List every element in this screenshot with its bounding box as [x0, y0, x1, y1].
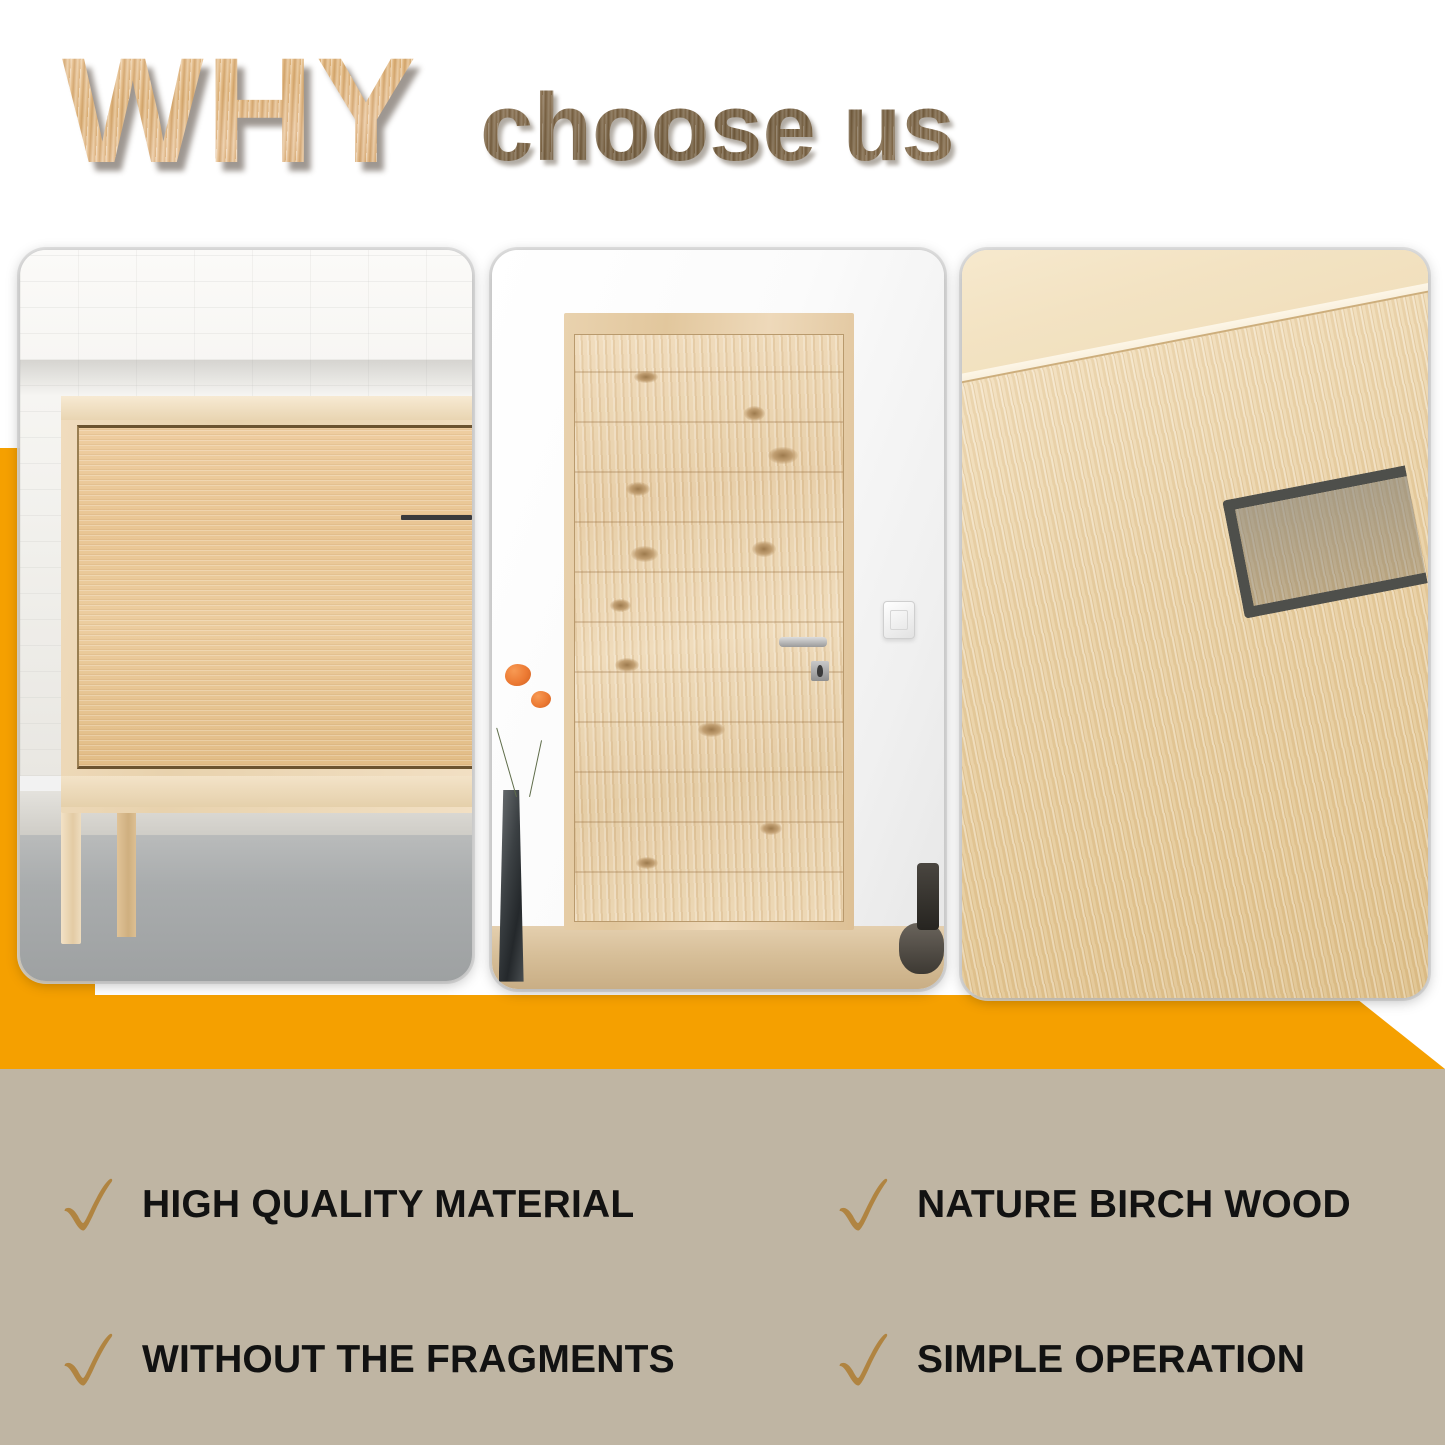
cabinet-drawer-front: [77, 425, 473, 769]
orange-accent-band: [0, 995, 1445, 1071]
door-keyhole-icon: [817, 665, 823, 677]
features-section: HIGH QUALITY MATERIAL NATURE BIRCH WOOD …: [0, 1069, 1445, 1445]
drawer-handle-closeup-photo: [962, 250, 1428, 998]
door-lever-handle[interactable]: [779, 637, 827, 646]
wood-knot-icon: [636, 857, 658, 869]
feature-label: NATURE BIRCH WOOD: [917, 1183, 1351, 1227]
concrete-floor: [20, 835, 472, 981]
oak-interior-door-photo: [492, 250, 944, 989]
feature-label: SIMPLE OPERATION: [917, 1338, 1305, 1382]
gallery-card-door[interactable]: [492, 250, 944, 989]
floor-object: [899, 923, 944, 975]
wood-knot-icon: [631, 546, 658, 561]
wood-knot-icon: [744, 406, 766, 421]
wood-knot-icon: [626, 482, 650, 496]
infographic-root: WHY choose us: [0, 0, 1445, 1445]
check-mark-icon: [837, 1331, 891, 1389]
wood-knot-icon: [760, 822, 782, 835]
door-leaf: [574, 334, 845, 922]
feature-label: WITHOUT THE FRAGMENTS: [142, 1338, 675, 1382]
wall-light-switch[interactable]: [883, 601, 915, 639]
drawer-front-panel: [962, 289, 1428, 998]
wood-knot-icon: [768, 447, 798, 465]
check-mark-icon: [62, 1331, 116, 1389]
cabinet-top-panel: [61, 396, 472, 419]
cabinet-leg-inner: [117, 806, 136, 938]
wood-knot-icon: [752, 541, 776, 557]
wall-shadow: [20, 360, 472, 397]
features-grid: HIGH QUALITY MATERIAL NATURE BIRCH WOOD …: [62, 1127, 1392, 1437]
check-mark-icon: [837, 1176, 891, 1234]
wood-knot-icon: [610, 599, 632, 612]
feature-item-nature-birch-wood: NATURE BIRCH WOOD: [837, 1176, 1392, 1234]
feature-item-without-the-fragments: WITHOUT THE FRAGMENTS: [62, 1331, 837, 1389]
cabinet-bottom-rail: [61, 776, 472, 807]
wood-knot-icon: [615, 658, 639, 672]
wooden-floor: [492, 926, 944, 989]
feature-item-simple-operation: SIMPLE OPERATION: [837, 1331, 1392, 1389]
floor-object-secondary: [917, 863, 940, 930]
cabinet-drawer-handle: [401, 515, 472, 520]
wood-knot-icon: [698, 722, 725, 737]
image-gallery: [0, 0, 1445, 1000]
feature-item-high-quality-material: HIGH QUALITY MATERIAL: [62, 1176, 837, 1234]
gallery-card-handle-closeup[interactable]: [962, 250, 1428, 998]
check-mark-icon: [62, 1176, 116, 1234]
door-frame: [564, 313, 853, 930]
gallery-card-cabinet[interactable]: [20, 250, 472, 981]
feature-label: HIGH QUALITY MATERIAL: [142, 1183, 634, 1227]
wooden-cabinet-photo: [20, 250, 472, 981]
wood-knot-icon: [634, 371, 658, 384]
